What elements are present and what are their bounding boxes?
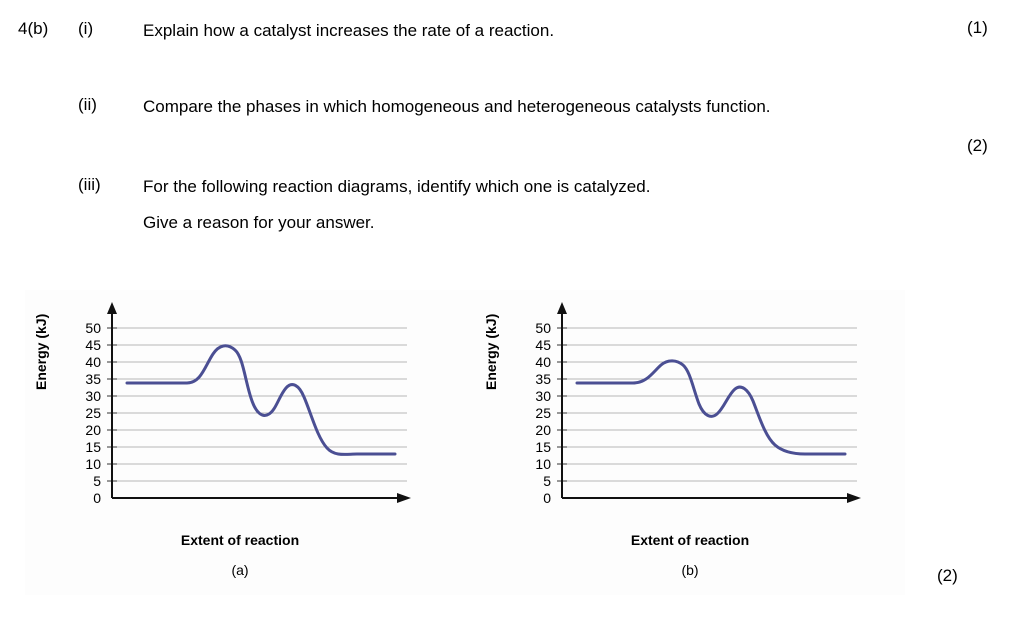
question-row-ii: (ii) Compare the phases in which homogen…	[18, 94, 771, 120]
chart-b-plot: 50 45 40 35 30 25 20 15 10 5 0	[505, 300, 885, 535]
svg-text:10: 10	[85, 456, 101, 472]
svg-text:15: 15	[85, 439, 101, 455]
question-row-i: 4(b) (i) Explain how a catalyst increase…	[18, 18, 554, 44]
marks-i: (1)	[967, 18, 988, 38]
svg-text:0: 0	[543, 490, 551, 506]
question-text-iii-line2: Give a reason for your answer.	[143, 210, 375, 236]
question-part-roman-i: (i)	[78, 18, 143, 40]
svg-text:0: 0	[93, 490, 101, 506]
chart-a-plot: 50 45 40 35 30 25 20 15 10 5 0	[55, 300, 435, 535]
reaction-diagram-b: Energy (kJ)	[475, 290, 905, 595]
svg-text:35: 35	[85, 371, 101, 387]
svg-text:30: 30	[85, 388, 101, 404]
chart-a-caption: (a)	[55, 562, 425, 578]
svg-text:30: 30	[535, 388, 551, 404]
svg-text:5: 5	[93, 473, 101, 489]
question-text-ii: Compare the phases in which homogeneous …	[143, 94, 771, 120]
question-part-roman-iii: (iii)	[78, 174, 143, 196]
chart-a-x-axis-title: Extent of reaction	[55, 532, 425, 548]
chart-b-caption: (b)	[505, 562, 875, 578]
svg-text:15: 15	[535, 439, 551, 455]
chart-a-y-axis-title: Energy (kJ)	[33, 314, 49, 390]
svg-text:5: 5	[543, 473, 551, 489]
svg-text:50: 50	[85, 320, 101, 336]
svg-text:25: 25	[85, 405, 101, 421]
marks-ii: (2)	[967, 136, 988, 156]
svg-text:45: 45	[85, 337, 101, 353]
svg-text:35: 35	[535, 371, 551, 387]
question-text-iii-line1: For the following reaction diagrams, ide…	[143, 174, 650, 200]
question-row-iii: (iii) For the following reaction diagram…	[18, 174, 650, 200]
chart-b-y-axis-title: Energy (kJ)	[483, 314, 499, 390]
svg-text:10: 10	[535, 456, 551, 472]
question-number: 4(b)	[18, 18, 78, 40]
svg-text:45: 45	[535, 337, 551, 353]
svg-text:40: 40	[85, 354, 101, 370]
svg-text:40: 40	[535, 354, 551, 370]
chart-b-x-axis-title: Extent of reaction	[505, 532, 875, 548]
svg-text:50: 50	[535, 320, 551, 336]
question-part-roman-ii: (ii)	[78, 94, 143, 116]
svg-text:25: 25	[535, 405, 551, 421]
question-row-iii-line2: Give a reason for your answer.	[18, 210, 375, 236]
marks-iii: (2)	[937, 566, 958, 586]
svg-text:20: 20	[85, 422, 101, 438]
reaction-diagrams-figure: Energy (kJ)	[25, 290, 905, 595]
question-text-i: Explain how a catalyst increases the rat…	[143, 18, 554, 44]
reaction-diagram-a: Energy (kJ)	[25, 290, 455, 595]
svg-text:20: 20	[535, 422, 551, 438]
